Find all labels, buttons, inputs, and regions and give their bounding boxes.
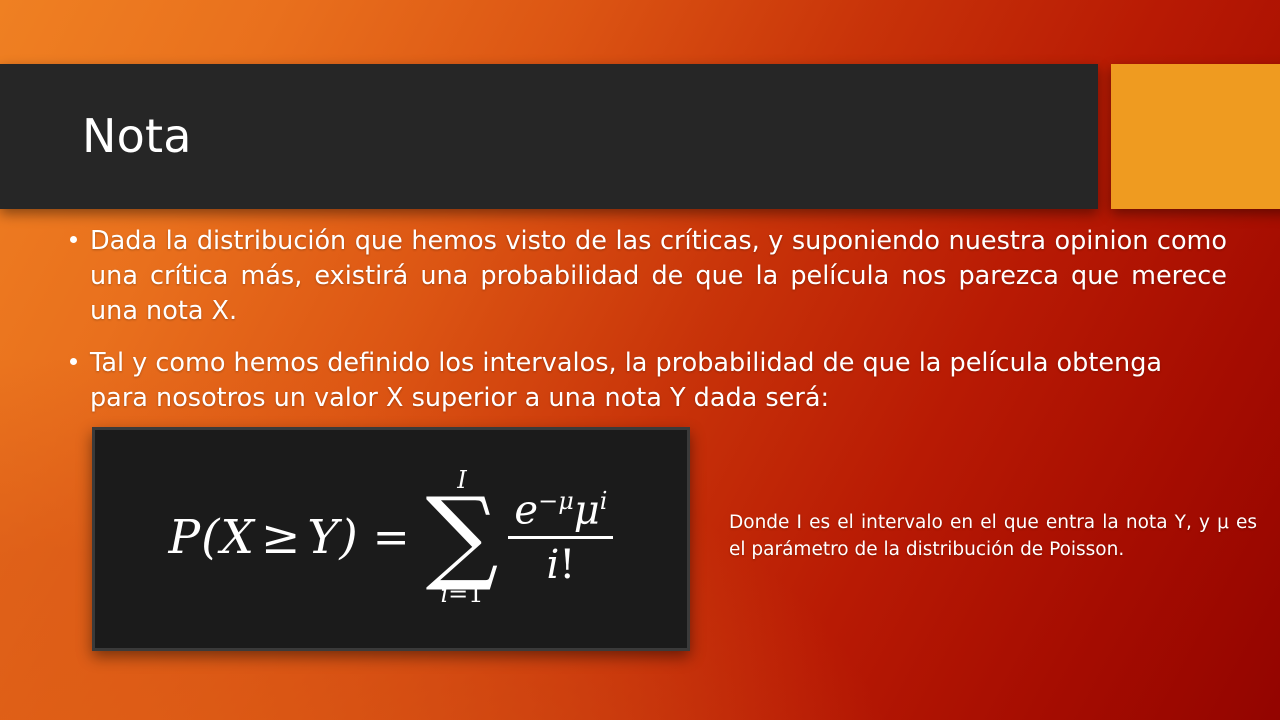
equation: P(X≥Y) = I ∑ i=1 e−μμi i! bbox=[169, 468, 614, 606]
numerator-exponent: −μ bbox=[538, 487, 574, 515]
page-title: Nota bbox=[82, 108, 192, 162]
accent-block bbox=[1111, 64, 1280, 209]
bullet-dot-icon bbox=[70, 236, 77, 243]
numerator-exponent-mu: μ bbox=[558, 487, 574, 515]
summation-sigma-icon: ∑ bbox=[426, 488, 499, 584]
numerator-mu-exponent: i bbox=[600, 487, 608, 515]
equation-variable-x: X bbox=[220, 510, 254, 565]
bullet-dot-icon bbox=[70, 358, 77, 365]
fraction-denominator: i! bbox=[547, 539, 576, 585]
numerator-e: e bbox=[514, 488, 538, 534]
summation-lower-equals: = bbox=[448, 580, 468, 608]
equation-equals-sign: = bbox=[373, 512, 426, 563]
equation-left-side: P(X≥Y) bbox=[169, 510, 373, 565]
body-content: Dada la distribución que hemos visto de … bbox=[62, 224, 1227, 416]
title-bar: Nota bbox=[0, 64, 1098, 209]
equation-function: P bbox=[169, 510, 202, 565]
summation-lower-limit: i=1 bbox=[440, 582, 483, 606]
denominator-factorial: ! bbox=[559, 542, 575, 588]
numerator-mu: μ bbox=[574, 488, 600, 534]
equation-paren-close: ) bbox=[339, 510, 358, 565]
list-item: Dada la distribución que hemos visto de … bbox=[62, 224, 1227, 329]
summation-index: i bbox=[440, 580, 448, 608]
fraction-numerator: e−μμi bbox=[508, 489, 613, 535]
formula-panel: P(X≥Y) = I ∑ i=1 e−μμi i! bbox=[92, 427, 690, 651]
equation-variable-y: Y bbox=[307, 510, 339, 565]
equation-relation-ge: ≥ bbox=[255, 510, 307, 565]
numerator-exponent-minus: − bbox=[538, 487, 558, 515]
list-item: Tal y como hemos definido los intervalos… bbox=[62, 346, 1227, 416]
bullet-text: Dada la distribución que hemos visto de … bbox=[90, 224, 1227, 329]
slide-canvas: Nota Dada la distribución que hemos vist… bbox=[0, 0, 1280, 720]
fraction: e−μμi i! bbox=[508, 489, 613, 584]
summation-group: I ∑ i=1 bbox=[426, 468, 509, 606]
equation-paren-open: ( bbox=[201, 510, 220, 565]
denominator-i: i bbox=[547, 542, 560, 588]
formula-caption: Donde I es el intervalo en el que entra … bbox=[729, 509, 1257, 563]
summation-lower-value: 1 bbox=[468, 580, 483, 608]
bullet-text: Tal y como hemos definido los intervalos… bbox=[90, 346, 1227, 416]
